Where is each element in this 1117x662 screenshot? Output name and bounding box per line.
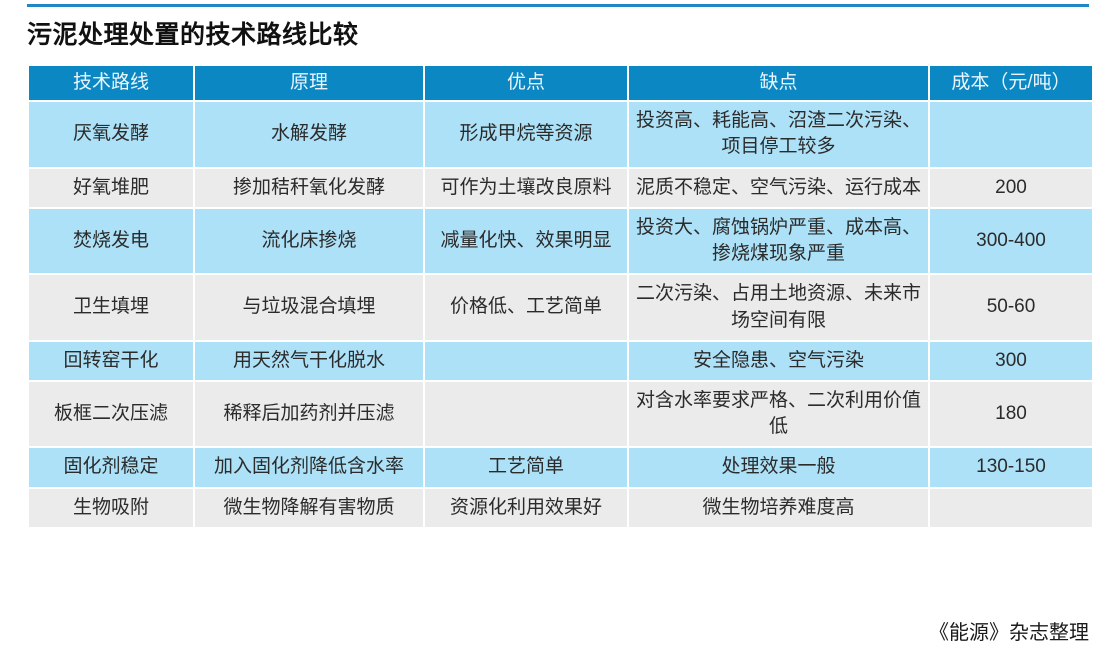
technology-comparison-table: 技术路线 原理 优点 缺点 成本（元/吨） 厌氧发酵 水解发酵 形成甲烷等资源 …: [27, 64, 1094, 529]
cell-principle: 与垃圾混合填埋: [195, 275, 423, 339]
table-row: 板框二次压滤 稀释后加药剂并压滤 对含水率要求严格、二次利用价值低 180: [29, 382, 1092, 446]
column-header-disadvantage: 缺点: [629, 66, 928, 100]
cell-cost: 180: [930, 382, 1092, 446]
cell-principle: 稀释后加药剂并压滤: [195, 382, 423, 446]
cell-advantage: 可作为土壤改良原料: [425, 169, 627, 207]
cell-route: 回转窑干化: [29, 342, 193, 380]
cell-route: 焚烧发电: [29, 209, 193, 273]
table-row: 回转窑干化 用天然气干化脱水 安全隐患、空气污染 300: [29, 342, 1092, 380]
cell-route: 好氧堆肥: [29, 169, 193, 207]
page-title: 污泥处理处置的技术路线比较: [27, 15, 359, 51]
table-body: 厌氧发酵 水解发酵 形成甲烷等资源 投资高、耗能高、沼渣二次污染、项目停工较多 …: [29, 102, 1092, 527]
column-header-route: 技术路线: [29, 66, 193, 100]
cell-route: 生物吸附: [29, 489, 193, 527]
comparison-table-container: 技术路线 原理 优点 缺点 成本（元/吨） 厌氧发酵 水解发酵 形成甲烷等资源 …: [27, 64, 1090, 529]
table-row: 卫生填埋 与垃圾混合填埋 价格低、工艺简单 二次污染、占用土地资源、未来市场空间…: [29, 275, 1092, 339]
cell-principle: 掺加秸秆氧化发酵: [195, 169, 423, 207]
table-header-row: 技术路线 原理 优点 缺点 成本（元/吨）: [29, 66, 1092, 100]
table-header: 技术路线 原理 优点 缺点 成本（元/吨）: [29, 66, 1092, 100]
table-row: 固化剂稳定 加入固化剂降低含水率 工艺简单 处理效果一般 130-150: [29, 448, 1092, 486]
table-row: 生物吸附 微生物降解有害物质 资源化利用效果好 微生物培养难度高: [29, 489, 1092, 527]
cell-cost: 300: [930, 342, 1092, 380]
cell-advantage: 资源化利用效果好: [425, 489, 627, 527]
cell-advantage: 形成甲烷等资源: [425, 102, 627, 166]
cell-route: 固化剂稳定: [29, 448, 193, 486]
cell-disadvantage: 投资高、耗能高、沼渣二次污染、项目停工较多: [629, 102, 928, 166]
top-divider-rule: [27, 4, 1089, 7]
cell-advantage: [425, 382, 627, 446]
cell-advantage: [425, 342, 627, 380]
cell-principle: 加入固化剂降低含水率: [195, 448, 423, 486]
cell-route: 卫生填埋: [29, 275, 193, 339]
cell-disadvantage: 泥质不稳定、空气污染、运行成本: [629, 169, 928, 207]
cell-cost: [930, 489, 1092, 527]
cell-principle: 微生物降解有害物质: [195, 489, 423, 527]
cell-advantage: 减量化快、效果明显: [425, 209, 627, 273]
cell-disadvantage: 二次污染、占用土地资源、未来市场空间有限: [629, 275, 928, 339]
cell-cost: 200: [930, 169, 1092, 207]
source-credit: 《能源》杂志整理: [929, 616, 1089, 645]
cell-principle: 用天然气干化脱水: [195, 342, 423, 380]
cell-principle: 水解发酵: [195, 102, 423, 166]
cell-disadvantage: 对含水率要求严格、二次利用价值低: [629, 382, 928, 446]
column-header-advantage: 优点: [425, 66, 627, 100]
column-header-principle: 原理: [195, 66, 423, 100]
cell-route: 板框二次压滤: [29, 382, 193, 446]
cell-cost: 300-400: [930, 209, 1092, 273]
cell-disadvantage: 投资大、腐蚀锅炉严重、成本高、掺烧煤现象严重: [629, 209, 928, 273]
page-root: 污泥处理处置的技术路线比较 技术路线 原理 优点 缺点 成本（元/吨） 厌氧发酵…: [0, 0, 1117, 662]
cell-principle: 流化床掺烧: [195, 209, 423, 273]
table-row: 厌氧发酵 水解发酵 形成甲烷等资源 投资高、耗能高、沼渣二次污染、项目停工较多: [29, 102, 1092, 166]
cell-cost: [930, 102, 1092, 166]
cell-advantage: 价格低、工艺简单: [425, 275, 627, 339]
cell-cost: 50-60: [930, 275, 1092, 339]
cell-route: 厌氧发酵: [29, 102, 193, 166]
cell-cost: 130-150: [930, 448, 1092, 486]
cell-disadvantage: 安全隐患、空气污染: [629, 342, 928, 380]
cell-advantage: 工艺简单: [425, 448, 627, 486]
table-row: 好氧堆肥 掺加秸秆氧化发酵 可作为土壤改良原料 泥质不稳定、空气污染、运行成本 …: [29, 169, 1092, 207]
cell-disadvantage: 处理效果一般: [629, 448, 928, 486]
table-row: 焚烧发电 流化床掺烧 减量化快、效果明显 投资大、腐蚀锅炉严重、成本高、掺烧煤现…: [29, 209, 1092, 273]
cell-disadvantage: 微生物培养难度高: [629, 489, 928, 527]
column-header-cost: 成本（元/吨）: [930, 66, 1092, 100]
